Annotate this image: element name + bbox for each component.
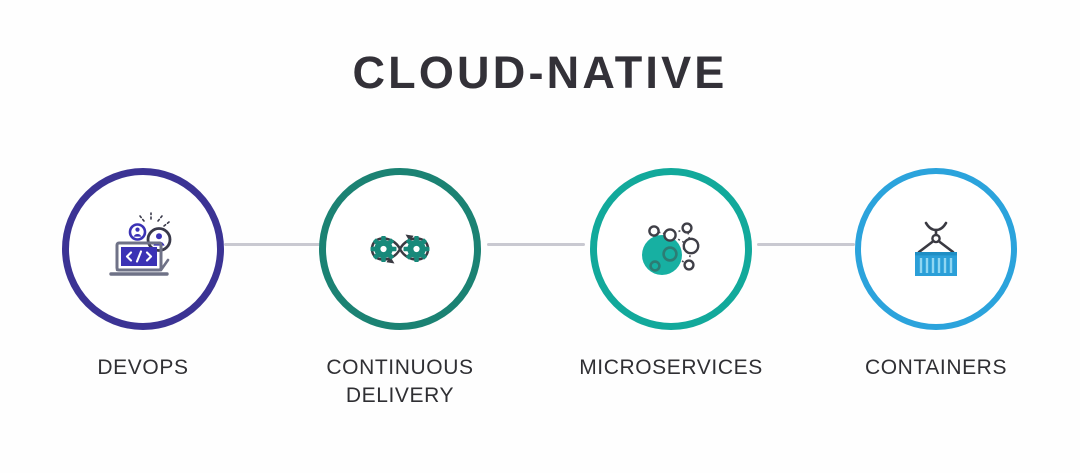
node-continuous-delivery-label: CONTINUOUS DELIVERY (297, 354, 503, 411)
node-containers[interactable]: CONTAINERS (833, 168, 1039, 382)
page-title: CLOUD-NATIVE (0, 49, 1080, 96)
node-devops-label: DEVOPS (40, 354, 246, 382)
node-microservices-circle[interactable] (590, 168, 752, 330)
node-containers-label: CONTAINERS (833, 354, 1039, 382)
node-microservices[interactable]: MICROSERVICES (568, 168, 774, 382)
infinity-gears-icon (358, 207, 442, 291)
node-continuous-delivery[interactable]: CONTINUOUS DELIVERY (297, 168, 503, 411)
network-nodes-icon (629, 207, 713, 291)
node-continuous-delivery-circle[interactable] (319, 168, 481, 330)
node-devops[interactable]: DEVOPS (40, 168, 246, 382)
node-devops-circle[interactable] (62, 168, 224, 330)
shipping-container-crane-icon (894, 207, 978, 291)
node-containers-circle[interactable] (855, 168, 1017, 330)
cloud-native-diagram: CLOUD-NATIVE (0, 0, 1080, 473)
laptop-code-devops-icon (101, 207, 185, 291)
node-microservices-label: MICROSERVICES (568, 354, 774, 382)
